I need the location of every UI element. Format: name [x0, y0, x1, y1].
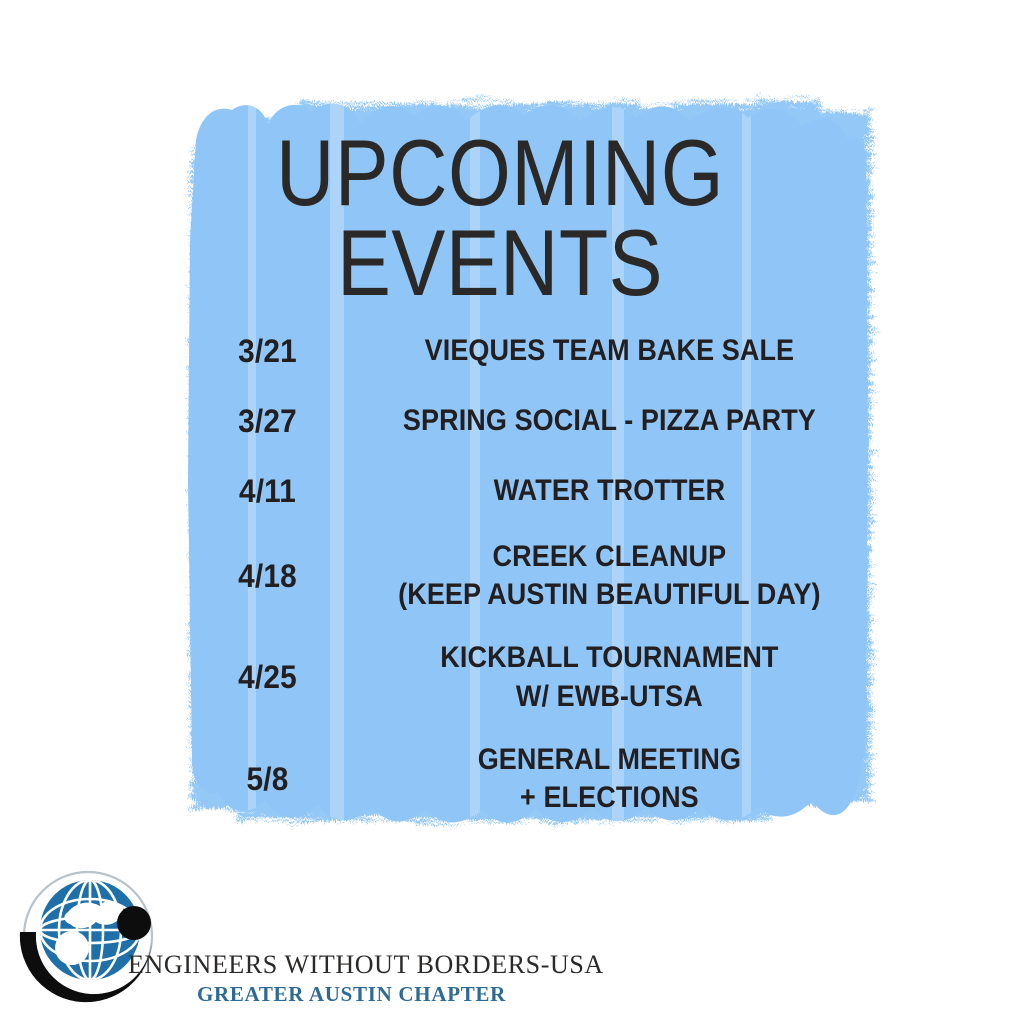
page-title: UPCOMING EVENTS	[225, 128, 775, 308]
event-date: 4/25	[186, 659, 349, 696]
event-date: 5/8	[186, 761, 349, 798]
logo-wordmark: ENGINEERS WITHOUT BORDERS-USA GREATER AU…	[128, 950, 518, 1007]
event-row: 3/21 VIEQUES TEAM BAKE SALE	[180, 316, 880, 386]
event-title: CREEK CLEANUP (KEEP AUSTIN BEAUTIFUL DAY…	[381, 538, 854, 615]
event-row: 3/27 SPRING SOCIAL - PIZZA PARTY	[180, 386, 880, 456]
event-title: KICKBALL TOURNAMENT W/ EWB-UTSA	[381, 639, 854, 716]
event-title: WATER TROTTER	[381, 472, 854, 510]
event-date: 4/11	[186, 473, 349, 510]
event-row: 4/11 WATER TROTTER	[180, 456, 880, 526]
globe-black-dot	[117, 906, 151, 940]
event-date: 3/21	[186, 333, 349, 370]
event-date: 4/18	[186, 558, 349, 595]
event-title: GENERAL MEETING + ELECTIONS	[381, 741, 854, 818]
logo-organization-name: ENGINEERS WITHOUT BORDERS-USA	[128, 950, 518, 980]
poster-canvas: UPCOMING EVENTS 3/21 VIEQUES TEAM BAKE S…	[0, 0, 1024, 1024]
event-row: 5/8 GENERAL MEETING + ELECTIONS	[180, 729, 880, 829]
logo-chapter-name: GREATER AUSTIN CHAPTER	[128, 982, 518, 1007]
event-title: VIEQUES TEAM BAKE SALE	[381, 332, 854, 370]
event-row: 4/25 KICKBALL TOURNAMENT W/ EWB-UTSA	[180, 626, 880, 729]
event-row: 4/18 CREEK CLEANUP (KEEP AUSTIN BEAUTIFU…	[180, 526, 880, 626]
event-title: SPRING SOCIAL - PIZZA PARTY	[381, 402, 854, 440]
event-date: 3/27	[186, 403, 349, 440]
events-list: 3/21 VIEQUES TEAM BAKE SALE 3/27 SPRING …	[180, 316, 880, 829]
organization-logo: ENGINEERS WITHOUT BORDERS-USA GREATER AU…	[16, 868, 516, 1018]
